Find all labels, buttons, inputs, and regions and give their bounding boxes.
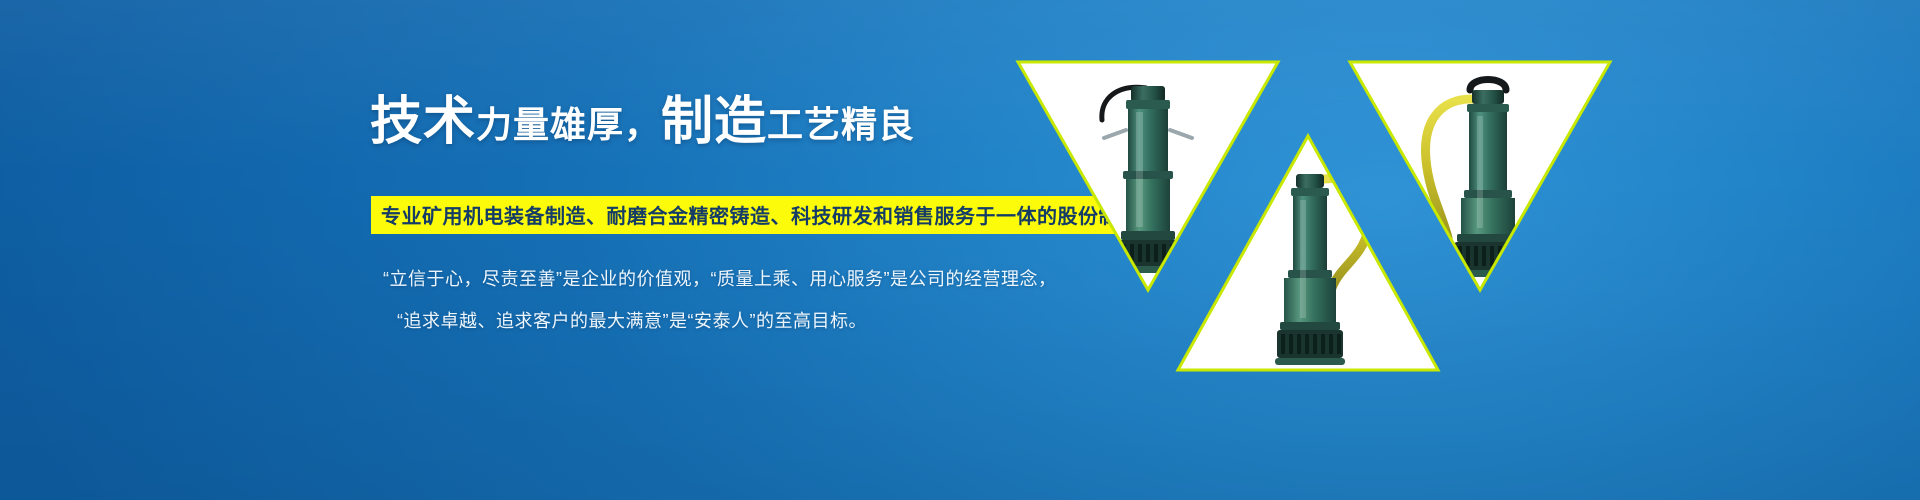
headline-segment-2: 力量雄厚， <box>476 104 661 145</box>
headline-segment-3: 制造 <box>661 93 767 151</box>
triangle-left-group <box>1018 62 1278 290</box>
headline-segment-1: 技术 <box>370 93 476 151</box>
hero-banner: 技术力量雄厚，制造工艺精良 专业矿用机电装备制造、耐磨合金精密铸造、科技研发和销… <box>0 0 1920 500</box>
triangle-right-group <box>1350 62 1610 290</box>
banner-text-block: 技术力量雄厚，制造工艺精良 专业矿用机电装备制造、耐磨合金精密铸造、科技研发和销… <box>0 0 1130 500</box>
banner-headline: 技术力量雄厚，制造工艺精良 <box>370 96 915 151</box>
headline-segment-4: 工艺精良 <box>767 104 915 145</box>
product-showcase-artwork <box>1010 40 1920 440</box>
